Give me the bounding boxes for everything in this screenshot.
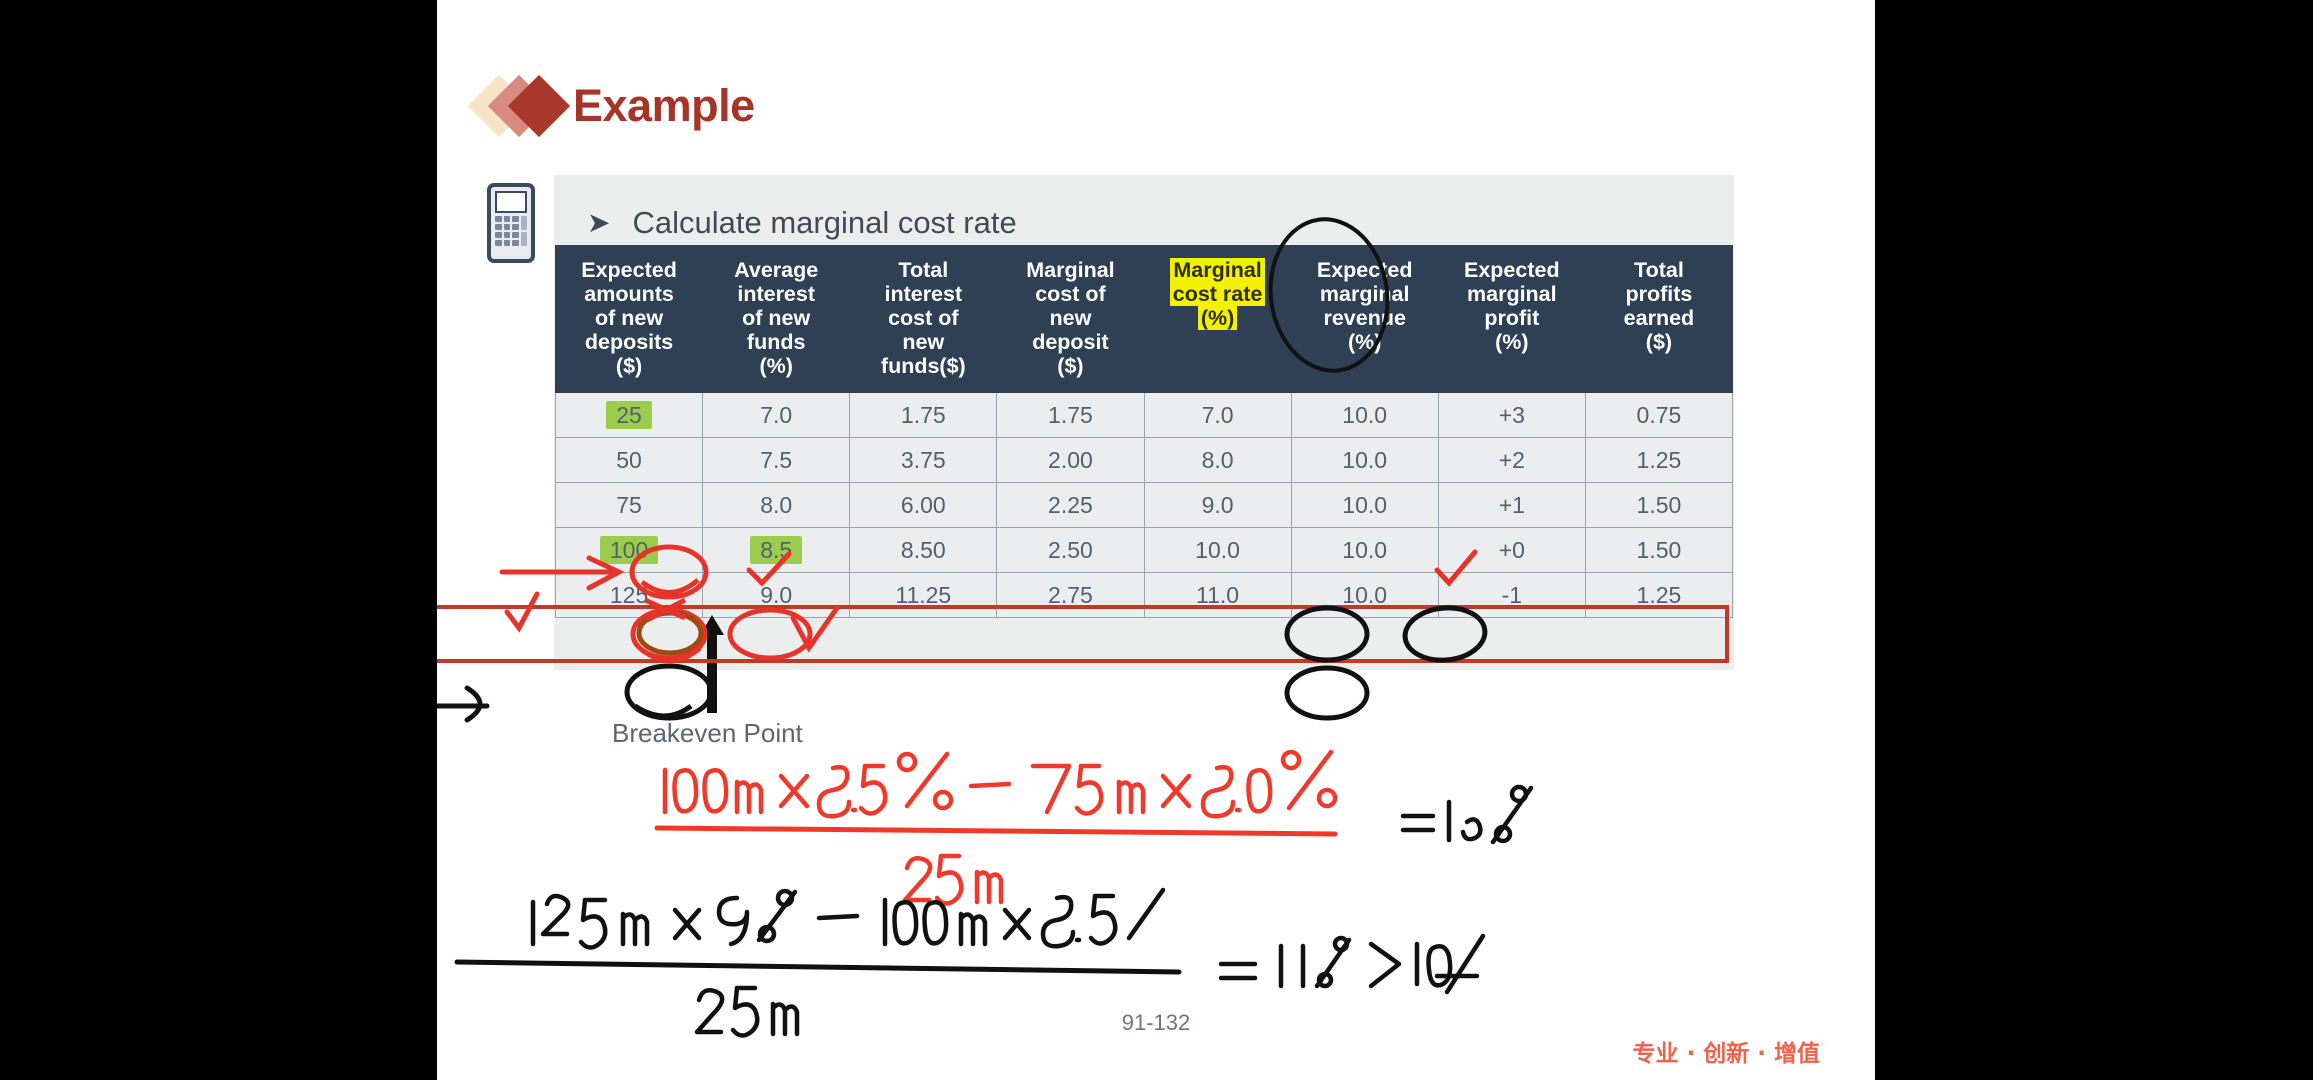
header-line: Total: [898, 258, 948, 282]
header-line: Expected: [1317, 258, 1413, 282]
tagline: 专业 · 创新 · 增值: [1632, 1034, 1820, 1068]
table-col-header-6: Expectedmarginalprofit(%): [1438, 246, 1585, 393]
red-check-row-100: [507, 594, 537, 628]
table-cell-r3-c7: 1.50: [1585, 528, 1732, 573]
table-cell-r0-c6: +3: [1438, 393, 1585, 438]
table-row: 1259.011.252.7511.010.0-11.25: [556, 573, 1733, 618]
header-line: funds: [747, 330, 806, 354]
table-col-header-1: Averageinterestof newfunds(%): [703, 246, 850, 393]
header-line: profits: [1625, 282, 1692, 306]
header-line: revenue: [1323, 306, 1405, 330]
breakeven-arrow-icon: [700, 615, 724, 713]
header-line: Expected: [581, 258, 677, 282]
bullet-row: ➤ Calculate marginal cost rate: [587, 205, 1017, 241]
table-cell-r2-c2: 6.00: [850, 483, 997, 528]
table-cell-r4-c6: -1: [1438, 573, 1585, 618]
bullet-text: Calculate marginal cost rate: [632, 205, 1016, 241]
table-cell-r1-c7: 1.25: [1585, 438, 1732, 483]
header-line: marginal: [1320, 282, 1410, 306]
slide-canvas: Example ➤ Calculate marginal cost rate: [437, 0, 1875, 1080]
table-cell-r1-c5: 10.0: [1291, 438, 1438, 483]
table-row: 1008.58.502.5010.010.0+01.50: [556, 528, 1733, 573]
highlighted-value: 100: [600, 536, 658, 564]
table-cell-r0-c3: 1.75: [997, 393, 1144, 438]
table-cell-r0-c1: 7.0: [703, 393, 850, 438]
table-row: 507.53.752.008.010.0+21.25: [556, 438, 1733, 483]
table-cell-r3-c5: 10.0: [1291, 528, 1438, 573]
table-cell-r2-c4: 9.0: [1144, 483, 1291, 528]
header-line: ($): [1646, 330, 1672, 354]
page-title: Example: [573, 80, 755, 132]
header-line: Expected: [1464, 258, 1560, 282]
header-line: interest: [884, 282, 962, 306]
header-line: amounts: [584, 282, 674, 306]
diamond-logo-icon: [477, 74, 563, 138]
table-row: 758.06.002.259.010.0+11.50: [556, 483, 1733, 528]
table-cell-r1-c6: +2: [1438, 438, 1585, 483]
header-line: Total: [1634, 258, 1684, 282]
table-cell-r2-c1: 8.0: [703, 483, 850, 528]
table-cell-r3-c6: +0: [1438, 528, 1585, 573]
bullet-arrow-icon: ➤: [587, 209, 610, 237]
header-line: (%): [1495, 330, 1528, 354]
table-cell-r3-c3: 2.50: [997, 528, 1144, 573]
header-line: ($): [616, 354, 642, 378]
calculator-icon: [487, 183, 535, 263]
slide-title-row: Example: [477, 70, 755, 142]
header-line: (%): [1348, 330, 1381, 354]
black-arrow-to-row-125: [437, 688, 487, 720]
table-cell-r1-c2: 3.75: [850, 438, 997, 483]
table-cell-r3-c1: 8.5: [703, 528, 850, 573]
table-body: 257.01.751.757.010.0+30.75507.53.752.008…: [556, 393, 1733, 618]
header-line: (%): [759, 354, 792, 378]
table-cell-r2-c5: 10.0: [1291, 483, 1438, 528]
table-cell-r4-c7: 1.25: [1585, 573, 1732, 618]
table-cell-r1-c0: 50: [556, 438, 703, 483]
header-line: Marginal: [1026, 258, 1114, 282]
table-cell-r4-c0: 125: [556, 573, 703, 618]
breakeven-label: Breakeven Point: [612, 718, 803, 749]
table-col-header-4: Marginalcost rate(%): [1144, 246, 1291, 393]
table-cell-r2-c0: 75: [556, 483, 703, 528]
table-cell-r3-c2: 8.50: [850, 528, 997, 573]
header-line: of new: [742, 306, 810, 330]
highlighted-value: 8.5: [750, 536, 802, 564]
table-cell-r0-c4: 7.0: [1144, 393, 1291, 438]
header-line: cost of: [888, 306, 958, 330]
table-col-header-5: Expectedmarginalrevenue(%): [1291, 246, 1438, 393]
table-cell-r0-c5: 10.0: [1291, 393, 1438, 438]
table-cell-r0-c0: 25: [556, 393, 703, 438]
table-cell-r2-c3: 2.25: [997, 483, 1144, 528]
header-line: deposits: [585, 330, 673, 354]
header-line: deposit: [1032, 330, 1108, 354]
table-cell-r2-c6: +1: [1438, 483, 1585, 528]
table-cell-r0-c2: 1.75: [850, 393, 997, 438]
header-line: marginal: [1467, 282, 1557, 306]
header-line: new: [1050, 306, 1092, 330]
header-line: (%): [1198, 306, 1237, 330]
table-cell-r3-c0: 100: [556, 528, 703, 573]
table-cell-r4-c2: 11.25: [850, 573, 997, 618]
header-line: cost rate: [1170, 282, 1266, 306]
handwritten-formula-1-result: [1403, 787, 1531, 842]
table-cell-r1-c4: 8.0: [1144, 438, 1291, 483]
table-cell-r3-c4: 10.0: [1144, 528, 1291, 573]
handwritten-formula-1: [657, 752, 1335, 904]
screenshot-stage: Example ➤ Calculate marginal cost rate: [0, 0, 2313, 1080]
header-line: Marginal: [1170, 258, 1264, 282]
header-line: funds($): [881, 354, 966, 378]
table-col-header-3: Marginalcost ofnewdeposit($): [997, 246, 1144, 393]
table-col-header-7: Totalprofitsearned($): [1585, 246, 1732, 393]
table-cell-r1-c3: 2.00: [997, 438, 1144, 483]
header-line: new: [902, 330, 944, 354]
table-cell-r4-c5: 10.0: [1291, 573, 1438, 618]
table-header-row: Expectedamountsof newdeposits($)Averagei…: [556, 246, 1733, 393]
header-line: of new: [595, 306, 663, 330]
black-circle-125: [627, 666, 711, 718]
table-cell-r4-c1: 9.0: [703, 573, 850, 618]
header-line: profit: [1484, 306, 1539, 330]
header-line: interest: [737, 282, 815, 306]
table-cell-r1-c1: 7.5: [703, 438, 850, 483]
table-col-header-2: Totalinterestcost ofnewfunds($): [850, 246, 997, 393]
page-number: 91-132: [437, 1010, 1875, 1036]
highlighted-value: 25: [606, 401, 652, 429]
header-line: earned: [1624, 306, 1695, 330]
table-cell-r2-c7: 1.50: [1585, 483, 1732, 528]
header-line: Average: [734, 258, 818, 282]
black-circle-11.0: [1287, 668, 1367, 718]
header-line: cost of: [1035, 282, 1105, 306]
header-line: ($): [1057, 354, 1083, 378]
marginal-cost-table: Expectedamountsof newdeposits($)Averagei…: [555, 245, 1733, 618]
table-row: 257.01.751.757.010.0+30.75: [556, 393, 1733, 438]
table-cell-r0-c7: 0.75: [1585, 393, 1732, 438]
table-cell-r4-c4: 11.0: [1144, 573, 1291, 618]
table-cell-r4-c3: 2.75: [997, 573, 1144, 618]
table-col-header-0: Expectedamountsof newdeposits($): [556, 246, 703, 393]
